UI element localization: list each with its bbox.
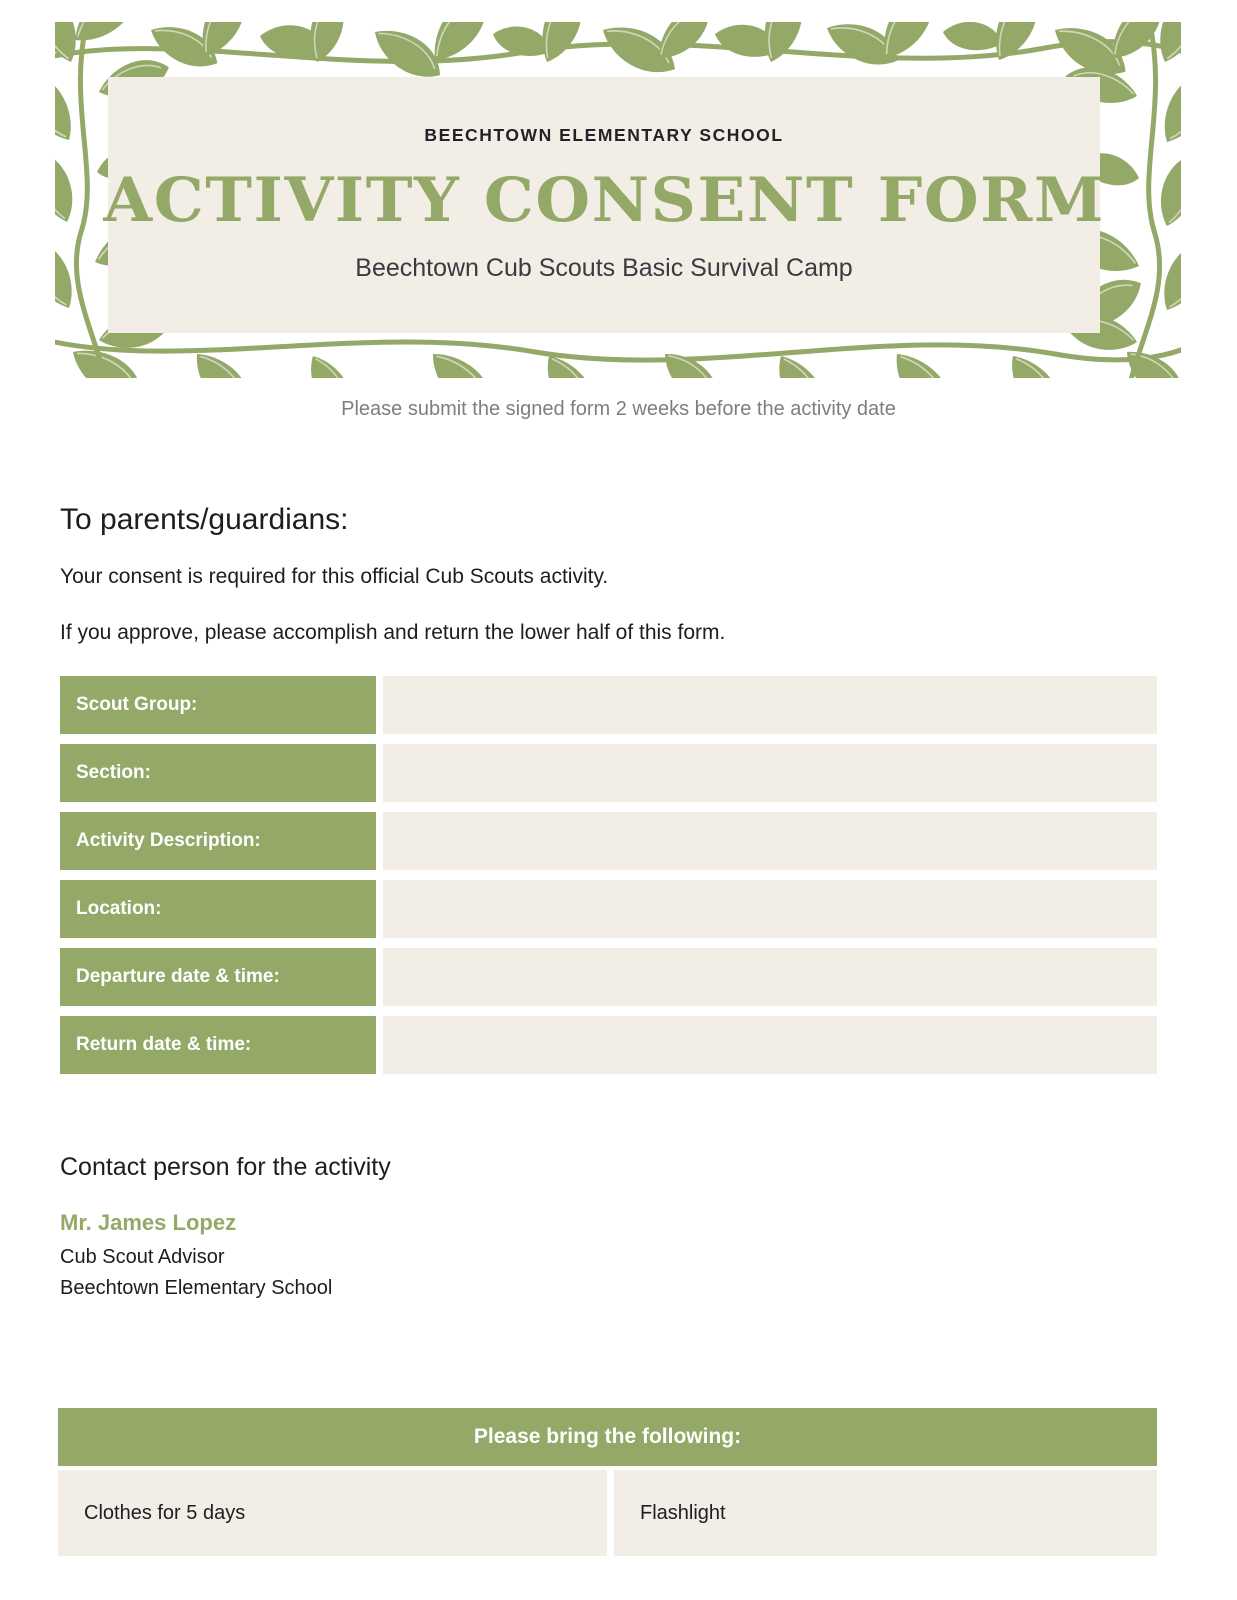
contact-role: Cub Scout Advisor bbox=[60, 1246, 225, 1269]
page-subtitle: Beechtown Cub Scouts Basic Survival Camp bbox=[355, 256, 852, 281]
field-input-section[interactable] bbox=[383, 744, 1157, 802]
to-parents-heading: To parents/guardians: bbox=[60, 503, 349, 537]
table-row: Location: bbox=[60, 880, 1157, 938]
bring-list-grid: Clothes for 5 days Flashlight bbox=[58, 1470, 1157, 1556]
consent-paragraph-2: If you approve, please accomplish and re… bbox=[60, 621, 725, 645]
header-banner: BEECHTOWN ELEMENTARY SCHOOL ACTIVITY CON… bbox=[55, 22, 1181, 378]
page-title: ACTIVITY CONSENT FORM bbox=[103, 170, 1105, 231]
consent-paragraph-1: Your consent is required for this offici… bbox=[60, 565, 608, 589]
list-item: Flashlight bbox=[614, 1470, 1157, 1556]
field-input-scout-group[interactable] bbox=[383, 676, 1157, 734]
field-label-return: Return date & time: bbox=[60, 1016, 376, 1074]
contact-section-heading: Contact person for the activity bbox=[60, 1153, 391, 1182]
table-row: Scout Group: bbox=[60, 676, 1157, 734]
table-row: Departure date & time: bbox=[60, 948, 1157, 1006]
table-row: Return date & time: bbox=[60, 1016, 1157, 1074]
field-label-scout-group: Scout Group: bbox=[60, 676, 376, 734]
submit-note: Please submit the signed form 2 weeks be… bbox=[0, 398, 1237, 421]
school-name: BEECHTOWN ELEMENTARY SCHOOL bbox=[424, 127, 783, 145]
bring-list-header: Please bring the following: bbox=[58, 1408, 1157, 1466]
table-row: Activity Description: bbox=[60, 812, 1157, 870]
header-panel: BEECHTOWN ELEMENTARY SCHOOL ACTIVITY CON… bbox=[108, 77, 1100, 333]
field-input-return[interactable] bbox=[383, 1016, 1157, 1074]
field-label-section: Section: bbox=[60, 744, 376, 802]
field-label-location: Location: bbox=[60, 880, 376, 938]
field-label-activity-description: Activity Description: bbox=[60, 812, 376, 870]
activity-details-form: Scout Group: Section: Activity Descripti… bbox=[60, 676, 1157, 1084]
list-item: Clothes for 5 days bbox=[58, 1470, 607, 1556]
field-input-activity-description[interactable] bbox=[383, 812, 1157, 870]
contact-name: Mr. James Lopez bbox=[60, 1210, 236, 1236]
field-input-departure[interactable] bbox=[383, 948, 1157, 1006]
field-label-departure: Departure date & time: bbox=[60, 948, 376, 1006]
field-input-location[interactable] bbox=[383, 880, 1157, 938]
contact-organization: Beechtown Elementary School bbox=[60, 1277, 332, 1300]
table-row: Section: bbox=[60, 744, 1157, 802]
